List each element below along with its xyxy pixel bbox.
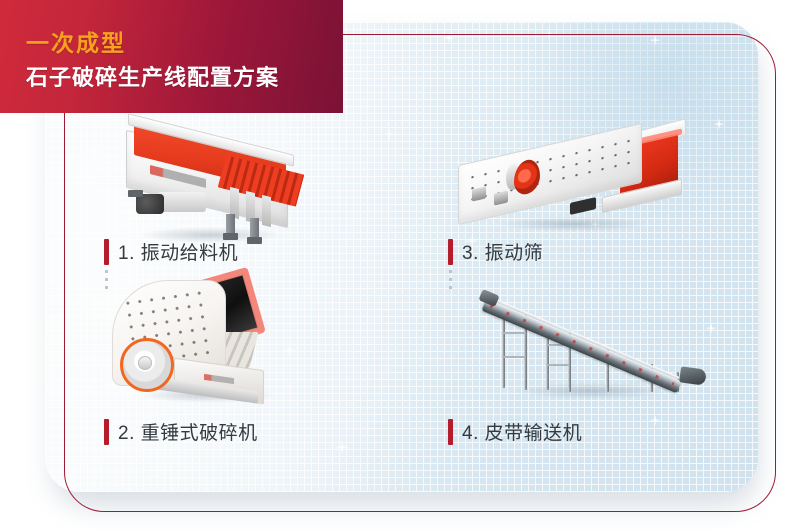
equipment-shadow [468, 214, 678, 234]
feeder-motor [136, 194, 164, 214]
label-accent-bar [448, 239, 453, 265]
label-accent-bar [448, 419, 453, 445]
item-label-2[interactable]: 2. 重锤式破碎机 [104, 418, 258, 445]
conveyor-rung [502, 356, 526, 358]
banner-subtitle: 一次成型 [26, 24, 126, 58]
feeder-housing [158, 192, 206, 212]
conveyor-rung [502, 332, 526, 334]
label-dot-trail [105, 270, 108, 294]
item-label-2-text: 2. 重锤式破碎机 [118, 418, 258, 445]
item-label-3[interactable]: 3. 振动筛 [448, 238, 543, 265]
equipment-image-vibrating-screen [452, 126, 682, 236]
banner-title: 石子破碎生产线配置方案 [26, 60, 279, 92]
equipment-image-belt-conveyor [478, 282, 710, 406]
conveyor-rung [546, 364, 570, 366]
equipment-image-vibrating-feeder [104, 128, 314, 243]
item-label-4-text: 4. 皮带输送机 [462, 418, 582, 445]
conveyor-head-pulley [679, 366, 707, 385]
conveyor-rail [483, 294, 679, 380]
label-accent-bar [104, 419, 109, 445]
infographic-canvas: 1. 振动给料机 3. 振动筛 2. 重锤式破碎机 4. 皮带输送机 一次成型 … [0, 0, 800, 530]
feeder-foot [247, 237, 262, 244]
label-accent-bar [104, 239, 109, 265]
label-dot-trail [449, 270, 452, 294]
item-label-1-text: 1. 振动给料机 [118, 238, 238, 265]
screen-counterweight [570, 197, 596, 215]
equipment-image-hammer-crusher [112, 272, 302, 404]
conveyor-leg [502, 310, 505, 388]
item-label-1[interactable]: 1. 振动给料机 [104, 238, 238, 265]
feeder-foot [128, 190, 143, 197]
crusher-flywheel-hub [138, 356, 152, 370]
item-label-4[interactable]: 4. 皮带输送机 [448, 418, 582, 445]
header-banner: 一次成型 石子破碎生产线配置方案 [0, 0, 343, 113]
feeder-fin [262, 195, 271, 227]
item-label-3-text: 3. 振动筛 [462, 238, 543, 265]
